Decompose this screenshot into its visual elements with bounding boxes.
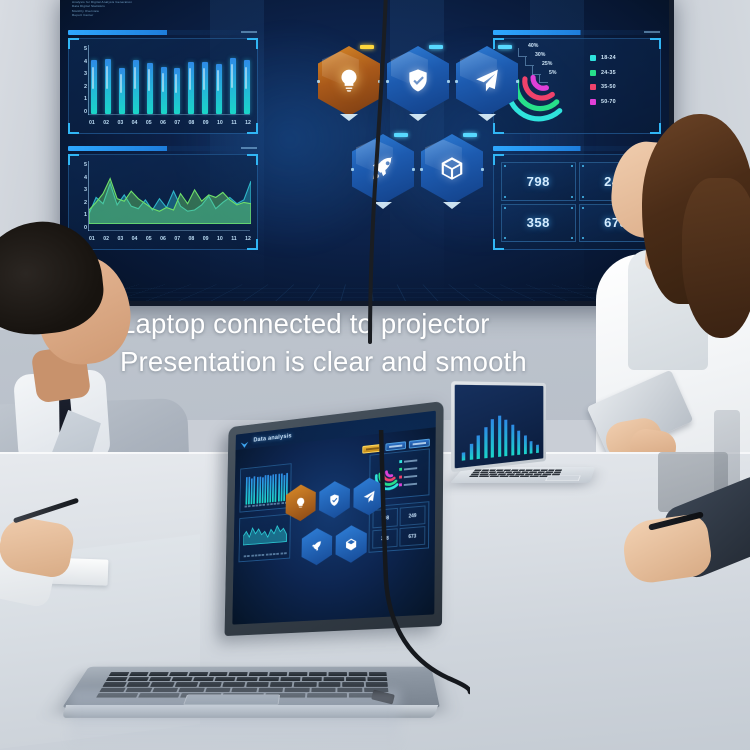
header-line-4: Report Center [72,13,182,17]
arc-value: 30% [535,52,545,58]
arc-value-labels: 40% 30% 25% 5% [518,43,580,87]
bar-chart-y-axis: 5 4 3 2 1 0 [74,47,87,115]
x-tick: 01 [89,120,95,126]
y-tick: 2 [84,85,87,91]
laptop2-trackpad[interactable] [545,475,581,481]
area-series [89,161,251,224]
bar [133,60,139,114]
x-tick: 08 [189,120,195,126]
attendee-left-hand-area [0,498,114,588]
y-tick: 4 [84,60,87,66]
laptop-hex-rocket[interactable] [301,527,332,566]
y-tick: 1 [84,97,87,103]
x-tick: 09 [203,236,209,242]
x-tick: 12 [245,236,251,242]
x-tick: 02 [103,120,109,126]
legend-label: 50-70 [601,99,616,105]
y-tick: 5 [84,47,87,53]
y-tick: 4 [84,176,87,182]
hdmi-cable-upper [326,0,466,460]
bar [202,62,208,114]
axis-line-vertical [88,45,89,115]
legend-label: 18-24 [601,55,616,61]
woman-hair-back [682,178,750,338]
panel-header-bar [493,30,661,35]
bar [230,58,236,114]
attendee-right-hand-area [586,500,750,610]
leader-line [525,57,534,66]
leader-line [518,48,527,57]
figure-value: 798 [527,174,550,189]
legend-item: 24-35 [590,70,652,76]
pen [13,498,79,524]
y-tick: 1 [84,213,87,219]
axis-line-horizontal [88,114,250,115]
x-tick: 11 [231,120,236,126]
bar [119,68,125,114]
x-tick: 09 [203,120,209,126]
arc-value: 5% [549,70,557,76]
bar [244,60,250,114]
x-tick: 06 [160,120,166,126]
y-tick: 2 [84,201,87,207]
legend-swatch [590,55,596,61]
panel-header-bar [68,30,258,35]
x-tick: 11 [231,236,236,242]
panel-header-bar [68,146,258,151]
legend-item: 18-24 [590,55,652,61]
table-reflection [70,690,400,750]
bar-chart: 5 4 3 2 1 0 010203040506070809101112 [69,39,257,133]
legend-swatch [590,99,596,105]
y-tick: 0 [84,110,87,116]
area-chart-y-axis: 5 4 3 2 1 0 [74,163,87,231]
bar [91,60,97,114]
bar-series [91,47,250,114]
x-tick: 10 [217,120,223,126]
bar-chart-x-axis: 010203040506070809101112 [89,118,251,127]
panel-bar-chart: 5 4 3 2 1 0 010203040506070809101112 [68,30,258,134]
arc-legend: 18-24 24-35 35-50 50-70 [590,55,652,113]
leader-line [532,66,541,75]
brand-logo-icon [240,437,249,446]
x-tick: 10 [217,236,223,242]
y-tick: 5 [84,163,87,169]
legend-swatch [590,84,596,90]
y-tick: 3 [84,188,87,194]
bar [161,67,167,114]
corner-marker [650,38,661,49]
panel-body: 5 4 3 2 1 0 010203040506070809101112 [68,38,258,134]
laptop-panel-area-chart [239,514,291,563]
y-tick: 3 [84,72,87,78]
bar [105,59,111,114]
figure-value: 358 [527,215,550,230]
x-tick: 12 [245,120,251,126]
laptop-panel-bar-chart [239,463,291,512]
bar [174,68,180,114]
leader-line [539,75,548,83]
laptop-app-title: Data analysis [253,433,292,444]
x-tick: 04 [132,120,138,126]
legend-label: 35-50 [601,84,616,90]
legend-swatch [590,70,596,76]
hdmi-cable [330,430,470,730]
bar [147,63,153,114]
arc-value: 40% [528,43,538,49]
legend-label: 24-35 [601,70,616,76]
legend-item: 35-50 [590,84,652,90]
bar [188,62,194,114]
x-tick: 07 [174,120,180,126]
x-tick: 03 [117,120,123,126]
legend-item: 50-70 [590,99,652,105]
laptop2-mini-chart [462,412,539,460]
x-tick: 05 [146,120,152,126]
scene-root: Data analysis system Analysis for Digita… [0,0,750,750]
arc-value: 25% [542,61,552,67]
screen-header-text: Data analysis system Analysis for Digita… [72,0,182,17]
laptop-hex-lightbulb[interactable] [285,483,315,522]
bar [216,64,222,114]
